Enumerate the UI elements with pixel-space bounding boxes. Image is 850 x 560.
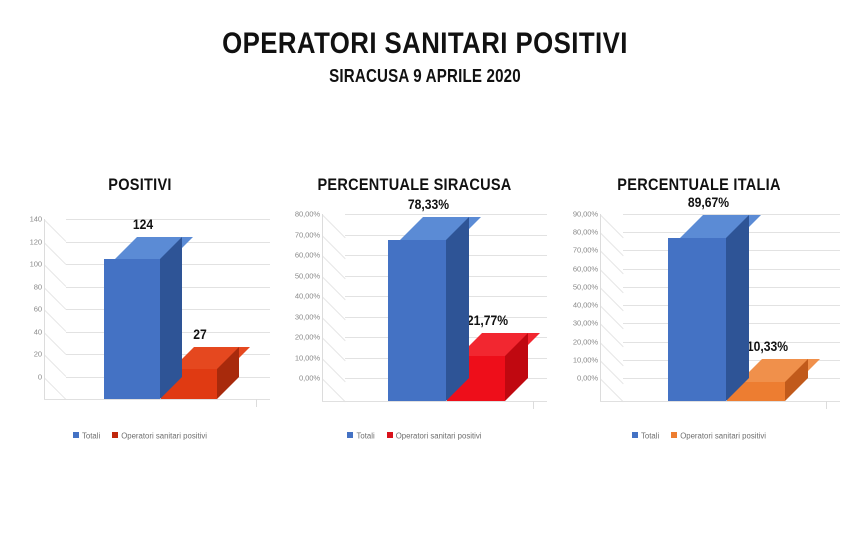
y-axis-tick-label: 90,00% bbox=[573, 210, 598, 219]
legend-swatch-operatori bbox=[671, 432, 677, 438]
side-gridline bbox=[322, 378, 345, 402]
y-axis-tick-label: 50,00% bbox=[295, 271, 320, 280]
y-axis: 140120100806040200 bbox=[0, 209, 44, 421]
bar-side-face bbox=[446, 217, 469, 401]
page-title: OPERATORI SANITARI POSITIVI bbox=[60, 28, 791, 60]
side-gridline bbox=[44, 242, 66, 265]
y-axis-tick-label: 60,00% bbox=[295, 251, 320, 260]
y-axis-line bbox=[600, 214, 601, 401]
y-axis-tick-label: 40,00% bbox=[573, 301, 598, 310]
y-axis-tick-label: 0,00% bbox=[299, 374, 320, 383]
chart-panel-positivi: POSITIVI 14012010080604020012427 Totali … bbox=[0, 176, 280, 436]
y-axis-tick-label: 80 bbox=[34, 282, 42, 291]
side-gridline bbox=[44, 264, 66, 287]
y-axis-tick-label: 60,00% bbox=[573, 264, 598, 273]
chart-legend: Totali Operatori sanitari positivi bbox=[548, 431, 850, 440]
y-axis-tick-label: 80,00% bbox=[573, 228, 598, 237]
legend-label-operatori: Operatori sanitari positivi bbox=[680, 431, 766, 440]
side-gridline bbox=[322, 276, 345, 300]
y-axis-tick-label: 70,00% bbox=[573, 246, 598, 255]
bar-front-face bbox=[104, 259, 160, 399]
plot-area: 90,00%80,00%70,00%60,00%50,00%40,00%30,0… bbox=[548, 209, 850, 421]
plot-area: 14012010080604020012427 bbox=[0, 209, 280, 421]
bar-totali bbox=[388, 217, 469, 401]
y-axis-tick-label: 60 bbox=[34, 305, 42, 314]
y-axis-tick-label: 80,00% bbox=[295, 210, 320, 219]
y-axis-tick-label: 20 bbox=[34, 350, 42, 359]
side-gridline bbox=[600, 342, 623, 366]
side-gridline bbox=[322, 317, 345, 341]
legend-entry-totali: Totali bbox=[73, 431, 100, 440]
side-gridline bbox=[600, 251, 623, 275]
chart-panel-percentuale-siracusa: PERCENTUALE SIRACUSA 80,00%70,00%60,00%5… bbox=[272, 176, 557, 436]
legend-label-operatori: Operatori sanitari positivi bbox=[396, 431, 482, 440]
y-axis-tick-label: 120 bbox=[30, 237, 42, 246]
side-gridline bbox=[322, 255, 345, 279]
side-gridline bbox=[322, 235, 345, 259]
y-axis-tick-label: 70,00% bbox=[295, 230, 320, 239]
y-axis-line bbox=[44, 219, 45, 399]
gridline bbox=[345, 214, 547, 215]
y-axis: 80,00%70,00%60,00%50,00%40,00%30,00%20,0… bbox=[272, 209, 322, 421]
legend-label-operatori: Operatori sanitari positivi bbox=[121, 431, 207, 440]
y-axis-tick-label: 140 bbox=[30, 215, 42, 224]
y-axis-tick-label: 10,00% bbox=[295, 353, 320, 362]
legend-swatch-totali bbox=[347, 432, 353, 438]
bar-side-face bbox=[160, 237, 182, 399]
data-label: 89,67% bbox=[659, 195, 757, 210]
y-axis: 90,00%80,00%70,00%60,00%50,00%40,00%30,0… bbox=[548, 209, 600, 421]
legend-swatch-totali bbox=[73, 432, 79, 438]
legend-entry-totali: Totali bbox=[347, 431, 374, 440]
side-gridline bbox=[44, 377, 66, 400]
floor-line bbox=[322, 401, 547, 402]
legend-label-totali: Totali bbox=[641, 431, 659, 440]
x-axis-tick bbox=[826, 401, 827, 409]
bar-totali bbox=[104, 237, 182, 399]
y-axis-tick-label: 0,00% bbox=[577, 374, 598, 383]
bar-totali bbox=[668, 215, 749, 401]
floor-line bbox=[600, 401, 840, 402]
y-axis-line bbox=[322, 214, 323, 401]
side-gridline bbox=[44, 219, 66, 242]
legend-entry-operatori: Operatori sanitari positivi bbox=[112, 431, 207, 440]
side-gridline bbox=[44, 309, 66, 332]
legend-entry-operatori: Operatori sanitari positivi bbox=[671, 431, 766, 440]
y-axis-tick-label: 30,00% bbox=[573, 319, 598, 328]
x-axis-tick bbox=[533, 401, 534, 409]
side-gridline bbox=[322, 358, 345, 382]
y-axis-tick-label: 40 bbox=[34, 327, 42, 336]
legend-swatch-totali bbox=[632, 432, 638, 438]
legend-swatch-operatori bbox=[112, 432, 118, 438]
y-axis-tick-label: 20,00% bbox=[295, 333, 320, 342]
floor-line bbox=[44, 399, 270, 400]
side-gridline bbox=[44, 287, 66, 310]
chart-legend: Totali Operatori sanitari positivi bbox=[272, 431, 557, 440]
y-axis-tick-label: 40,00% bbox=[295, 292, 320, 301]
side-gridline bbox=[322, 296, 345, 320]
chart-title: PERCENTUALE ITALIA bbox=[566, 176, 832, 195]
y-axis-tick-label: 50,00% bbox=[573, 282, 598, 291]
side-gridline bbox=[44, 355, 66, 378]
legend-label-totali: Totali bbox=[356, 431, 374, 440]
y-axis-tick-label: 30,00% bbox=[295, 312, 320, 321]
side-gridline bbox=[322, 337, 345, 361]
chart-legend: Totali Operatori sanitari positivi bbox=[0, 431, 280, 440]
legend-label-totali: Totali bbox=[82, 431, 100, 440]
chart-panel-percentuale-italia: PERCENTUALE ITALIA 90,00%80,00%70,00%60,… bbox=[548, 176, 850, 436]
legend-entry-operatori: Operatori sanitari positivi bbox=[387, 431, 482, 440]
data-label: 124 bbox=[95, 217, 190, 232]
chart-title: PERCENTUALE SIRACUSA bbox=[289, 176, 540, 195]
side-gridline bbox=[600, 269, 623, 293]
side-gridline bbox=[322, 214, 345, 238]
side-gridline bbox=[44, 332, 66, 355]
y-axis-tick-label: 0 bbox=[38, 373, 42, 382]
plot-area: 80,00%70,00%60,00%50,00%40,00%30,00%20,0… bbox=[272, 209, 557, 421]
y-axis-tick-label: 10,00% bbox=[573, 355, 598, 364]
side-gridline bbox=[600, 214, 623, 238]
y-axis-tick-label: 100 bbox=[30, 260, 42, 269]
y-axis-tick-label: 20,00% bbox=[573, 337, 598, 346]
x-axis-tick bbox=[256, 399, 257, 407]
bar-side-face bbox=[726, 215, 749, 401]
page-subtitle: SIRACUSA 9 APRILE 2020 bbox=[68, 66, 782, 87]
data-label: 78,33% bbox=[379, 197, 477, 212]
legend-swatch-operatori bbox=[387, 432, 393, 438]
bar-front-face bbox=[668, 238, 726, 401]
legend-entry-totali: Totali bbox=[632, 431, 659, 440]
bar-front-face bbox=[388, 240, 446, 401]
chart-title: POSITIVI bbox=[17, 176, 263, 195]
chart-header: OPERATORI SANITARI POSITIVI SIRACUSA 9 A… bbox=[0, 28, 850, 87]
